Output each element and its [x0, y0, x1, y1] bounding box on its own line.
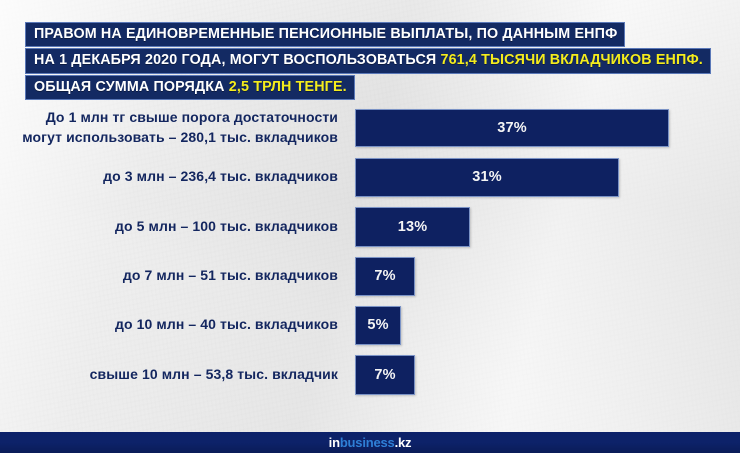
- header-highlight-text: 761,4 ТЫСЯЧИ ВКЛАДЧИКОВ ЕНПФ.: [440, 52, 702, 68]
- chart-row: до 5 млн – 100 тыс. вкладчиков13%: [0, 207, 740, 247]
- bar[interactable]: 37%: [355, 109, 669, 147]
- bar-chart: До 1 млн тг свыше порога достаточностимо…: [0, 108, 740, 405]
- bar[interactable]: 5%: [355, 306, 401, 345]
- bar-track: 7%: [355, 355, 740, 395]
- bar-value-label: 13%: [398, 219, 428, 235]
- bar-category-label: До 1 млн тг свыше порога достаточностимо…: [0, 108, 355, 148]
- header-banner: ПРАВОМ НА ЕДИНОВРЕМЕННЫЕ ПЕНСИОННЫЕ ВЫПЛ…: [25, 22, 717, 101]
- bar-category-label: до 3 млн – 236,4 тыс. вкладчиков: [0, 167, 355, 187]
- bar-value-label: 5%: [367, 317, 388, 333]
- footer-bar: inbusiness.kz: [0, 432, 740, 453]
- bar-category-label-line: до 5 млн – 100 тыс. вкладчиков: [0, 217, 338, 237]
- bar-value-label: 31%: [472, 169, 502, 185]
- infographic-root: ПРАВОМ НА ЕДИНОВРЕМЕННЫЕ ПЕНСИОННЫЕ ВЫПЛ…: [0, 0, 740, 453]
- header-highlight-text: 2,5 ТРЛН ТЕНГЕ.: [229, 79, 347, 95]
- header-plain-text: НА 1 ДЕКАБРЯ 2020 ГОДА, МОГУТ ВОСПОЛЬЗОВ…: [34, 52, 440, 68]
- bar[interactable]: 13%: [355, 207, 470, 247]
- bar-category-label-line: до 3 млн – 236,4 тыс. вкладчиков: [0, 167, 338, 187]
- bar-value-label: 37%: [497, 120, 527, 136]
- chart-row: До 1 млн тг свыше порога достаточностимо…: [0, 108, 740, 148]
- chart-row: свыше 10 млн – 53,8 тыс. вкладчик7%: [0, 355, 740, 395]
- chart-row: до 10 млн – 40 тыс. вкладчиков5%: [0, 306, 740, 345]
- bar-track: 5%: [355, 306, 740, 345]
- header-plain-text: ПРАВОМ НА ЕДИНОВРЕМЕННЫЕ ПЕНСИОННЫЕ ВЫПЛ…: [34, 26, 617, 42]
- bar-category-label: свыше 10 млн – 53,8 тыс. вкладчик: [0, 365, 355, 385]
- chart-row: до 7 млн – 51 тыс. вкладчиков7%: [0, 257, 740, 296]
- bar-value-label: 7%: [374, 367, 395, 383]
- logo-text-business: business: [340, 435, 395, 450]
- header-line-2: НА 1 ДЕКАБРЯ 2020 ГОДА, МОГУТ ВОСПОЛЬЗОВ…: [25, 48, 711, 73]
- logo-text-kz: .kz: [395, 435, 412, 450]
- inbusiness-logo[interactable]: inbusiness.kz: [329, 436, 412, 449]
- bar-category-label: до 10 млн – 40 тыс. вкладчиков: [0, 315, 355, 335]
- bar-category-label: до 5 млн – 100 тыс. вкладчиков: [0, 217, 355, 237]
- bar-category-label-line: могут использовать – 280,1 тыс. вкладчик…: [0, 128, 338, 148]
- header-line-1: ПРАВОМ НА ЕДИНОВРЕМЕННЫЕ ПЕНСИОННЫЕ ВЫПЛ…: [25, 22, 625, 47]
- bar-track: 7%: [355, 257, 740, 296]
- bar-category-label: до 7 млн – 51 тыс. вкладчиков: [0, 266, 355, 286]
- bar-category-label-line: свыше 10 млн – 53,8 тыс. вкладчик: [0, 365, 338, 385]
- bar-track: 37%: [355, 109, 740, 147]
- bar-category-label-line: до 7 млн – 51 тыс. вкладчиков: [0, 266, 338, 286]
- bar-track: 13%: [355, 207, 740, 247]
- header-plain-text: ОБЩАЯ СУММА ПОРЯДКА: [34, 79, 229, 95]
- bar[interactable]: 31%: [355, 158, 619, 197]
- bar-category-label-line: до 10 млн – 40 тыс. вкладчиков: [0, 315, 338, 335]
- bar[interactable]: 7%: [355, 355, 415, 395]
- bar-category-label-line: До 1 млн тг свыше порога достаточности: [0, 108, 338, 128]
- bar-track: 31%: [355, 158, 740, 197]
- header-line-3: ОБЩАЯ СУММА ПОРЯДКА 2,5 ТРЛН ТЕНГЕ.: [25, 75, 355, 100]
- bar-value-label: 7%: [374, 268, 395, 284]
- chart-row: до 3 млн – 236,4 тыс. вкладчиков31%: [0, 158, 740, 197]
- logo-text-in: in: [329, 435, 340, 450]
- bar[interactable]: 7%: [355, 257, 415, 296]
